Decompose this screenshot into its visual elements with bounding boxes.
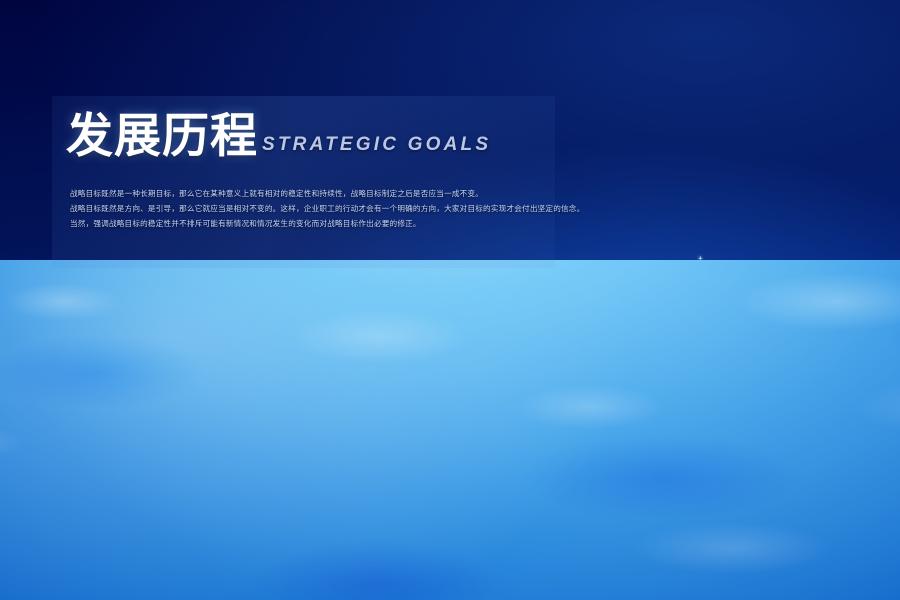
star-icon [700,258,701,259]
body-line: 战略目标既然是一种长期目标，那么它在某种意义上就有相对的稳定性和持续性，战略目标… [70,186,570,201]
title-block: 发展历程 STRATEGIC GOALS [66,112,586,159]
earth-horizon [0,260,900,600]
page-subtitle: STRATEGIC GOALS [262,134,491,156]
body-line: 战略目标既然是方向、是引导，那么它就应当是相对不变的。这样，企业职工的行动才会有… [70,201,570,216]
earth-sphere [0,260,900,600]
page-title: 发展历程 [66,112,258,159]
body-line: 当然，强调战略目标的稳定性并不排斥可能有新情况和情况发生的变化而对战略目标作出必… [70,216,570,231]
body-copy: 战略目标既然是一种长期目标，那么它在某种意义上就有相对的稳定性和持续性，战略目标… [70,186,570,231]
banner-scene: 发展历程 STRATEGIC GOALS 战略目标既然是一种长期目标，那么它在某… [0,0,900,600]
